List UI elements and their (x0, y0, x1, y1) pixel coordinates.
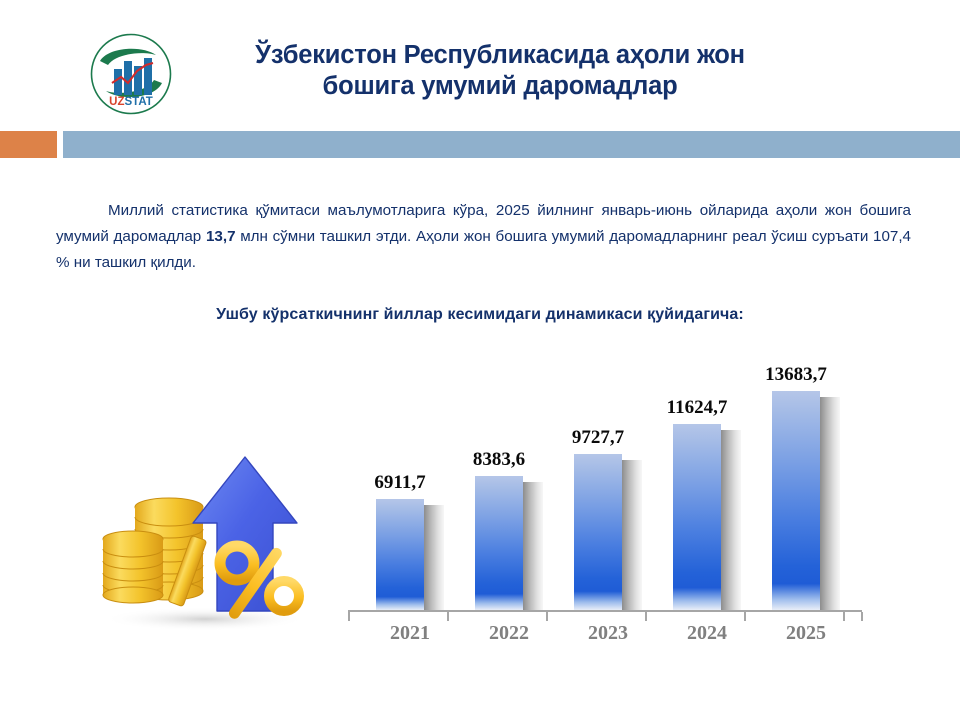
chart-bar-shadow (820, 397, 840, 610)
chart-x-label-2023: 2023 (560, 622, 656, 645)
chart-bar[interactable] (574, 454, 622, 610)
chart-bar-value-label: 9727,7 (560, 427, 636, 449)
chart-bar-shadow (622, 460, 642, 610)
svg-text:UZSTAT: UZSTAT (109, 96, 153, 108)
chart-bar-shadow (424, 505, 444, 610)
page-header: UZSTAT Ўзбекистон Республикасида аҳоли ж… (0, 0, 960, 128)
chart-bar[interactable] (772, 391, 820, 610)
chart-bar[interactable] (673, 424, 721, 610)
chart-plot-area: 6911,78383,69727,711624,713683,7 (340, 370, 870, 610)
page-title: Ўзбекистон Республикасида аҳоли жон боши… (180, 40, 820, 102)
page-title-line-2: бошига умумий даромадлар (323, 72, 678, 100)
chart-axis-tick (744, 612, 746, 621)
chart-axis-tick (645, 612, 647, 621)
chart-axis-tick (546, 612, 548, 621)
chart-bar-group: 9727,7 (574, 370, 642, 610)
chart-bar-value-label: 6911,7 (362, 472, 438, 494)
chart-x-label-2021: 2021 (362, 622, 458, 645)
page-title-line-1: Ўзбекистон Республикасида аҳоли жон (255, 41, 745, 69)
summary-highlight-value: 13,7 (206, 228, 236, 245)
chart-axis-tick (348, 612, 350, 621)
chart-bar-group: 6911,7 (376, 370, 444, 610)
uzstat-logo-icon: UZSTAT (90, 33, 172, 115)
chart-bar-value-label: 13683,7 (758, 364, 834, 386)
income-per-capita-bar-chart: 6911,78383,69727,711624,713683,7 2021202… (340, 370, 870, 650)
chart-bar-value-label: 8383,6 (461, 449, 537, 471)
chart-axis-tick (447, 612, 449, 621)
chart-bar-group: 11624,7 (673, 370, 741, 610)
chart-x-axis (348, 610, 862, 612)
chart-x-label-2022: 2022 (461, 622, 557, 645)
accent-band-orange (0, 131, 57, 158)
chart-bar-shadow (523, 482, 543, 610)
chart-x-label-2024: 2024 (659, 622, 755, 645)
summary-paragraph: Миллий статистика қўмитаси маълумотлариг… (56, 198, 911, 276)
coins-growth-arrow-percent-illustration (85, 443, 325, 635)
chart-x-tick-labels: 20212022202320242025 (340, 622, 870, 656)
chart-bar-group: 8383,6 (475, 370, 543, 610)
chart-bar-value-label: 11624,7 (659, 397, 735, 419)
chart-axis-tick (861, 612, 863, 621)
chart-bar-group: 13683,7 (772, 370, 840, 610)
chart-x-label-2025: 2025 (758, 622, 854, 645)
chart-axis-tick (843, 612, 845, 621)
chart-subtitle: Ушбу кўрсаткичнинг йиллар кесимидаги дин… (0, 306, 960, 324)
chart-bar-shadow (721, 430, 741, 610)
chart-bar[interactable] (475, 476, 523, 610)
chart-bar[interactable] (376, 499, 424, 610)
accent-band-blue (63, 131, 960, 158)
